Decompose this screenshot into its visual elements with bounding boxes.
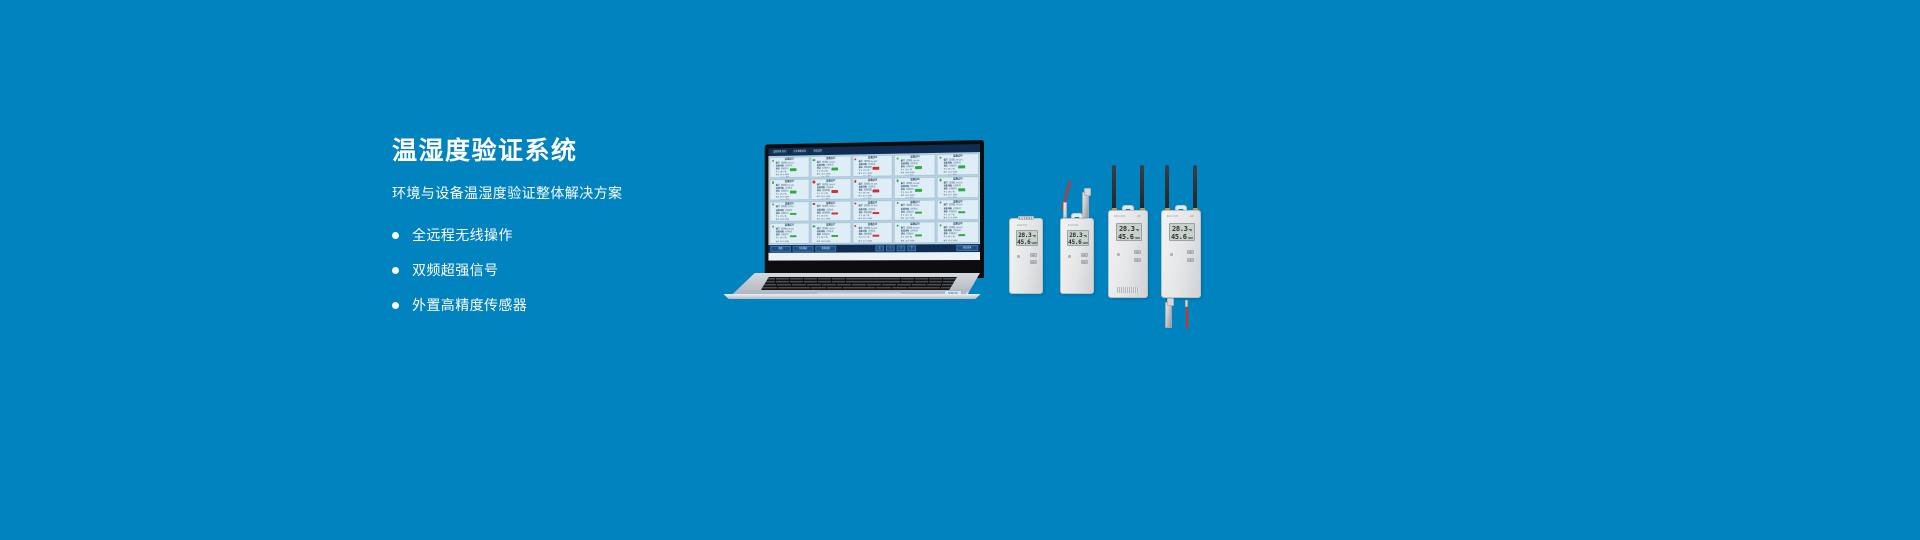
device-status-led-icon — [1017, 255, 1020, 258]
monitor-card[interactable]: 监测点17编号温湿度-TH-017采集间隔1分钟/次状态在线运行T 128.2 … — [810, 222, 851, 244]
monitor-card-status-pill — [831, 235, 838, 237]
card-status-led-icon — [897, 180, 899, 182]
keyboard-key[interactable] — [843, 287, 858, 290]
device-set-button[interactable]: SET — [1030, 253, 1037, 257]
monitor-card-status-pill — [915, 166, 922, 168]
monitor-card-status-pill — [915, 234, 922, 236]
temperature-probe-tip — [1185, 300, 1188, 307]
monitor-card-rows: 编号温湿度-TH-011采集间隔1分钟/次状态在线运行T 127.8 ℃H 14… — [771, 206, 807, 222]
lcd-humidity-unit: %RH — [1188, 237, 1193, 241]
monitor-card-rows: 编号温湿度-TH-010采集间隔1分钟/次状态在线运行T 128.0 ℃H 14… — [939, 182, 977, 198]
lcd-temperature-row: 28.3 ℃ — [1117, 225, 1141, 233]
monitor-card-status-pill — [873, 167, 880, 169]
keyboard-key[interactable] — [777, 284, 791, 287]
pager-page-1-button[interactable]: 1 — [886, 246, 895, 251]
hero-banner: 温湿度验证系统 环境与设备温湿度验证整体解决方案 全远程无线操作 双频超强信号 … — [0, 0, 1920, 540]
keyboard-key[interactable] — [762, 287, 777, 290]
temperature-probe-thin — [1063, 202, 1067, 218]
tab-device-monitor[interactable]: 设备管理·监控 — [771, 149, 788, 154]
laptop-base-deck: 智慧互联 — [724, 273, 980, 295]
keyboard-key[interactable] — [887, 278, 900, 281]
monitor-card-status-pill — [831, 190, 838, 192]
lcd-humidity-value: 45.6 — [1171, 233, 1187, 241]
lcd-humidity-value: 45.6 — [1118, 233, 1134, 241]
monitor-card[interactable]: 监测点11编号温湿度-TH-011采集间隔1分钟/次状态在线运行T 127.8 … — [769, 201, 809, 223]
monitor-card[interactable]: 监测点02编号温湿度-TH-002采集间隔1分钟/次状态在线运行T 128.0 … — [810, 155, 851, 177]
device-data-logger-external-probe: ENCON 28.3 ℃ 45.6 %RH REC SET REC — [1060, 218, 1094, 294]
monitor-card[interactable]: 监测点15编号温湿度-TH-015采集间隔1分钟/次状态在线运行T 127.7 … — [937, 199, 979, 221]
monitor-card[interactable]: 监测点05编号温湿度-TH-005采集间隔1分钟/次状态在线运行T 128.1 … — [937, 153, 979, 175]
monitor-card[interactable]: 监测点20编号温湿度-TH-020采集间隔1分钟/次状态在线运行T 128.0 … — [937, 221, 979, 243]
monitor-card-rows: 编号温湿度-TH-007采集间隔1分钟/次状态离线报警T 127.9 ℃H 14… — [812, 184, 849, 200]
antenna-right-icon — [1193, 165, 1197, 209]
lcd-humidity-unit: %RH — [1135, 237, 1140, 241]
lcd-temperature-unit: ℃ — [1083, 235, 1086, 239]
add-device-button[interactable]: 新增设备 — [815, 246, 836, 251]
keyboard-key[interactable] — [790, 278, 803, 281]
device-rec-button[interactable]: REC — [1134, 258, 1141, 262]
device-model-label: H8 — [1190, 214, 1194, 218]
lcd-temperature-value: 28.3 — [1018, 232, 1031, 239]
monitor-card-status-pill — [958, 234, 965, 236]
lcd-humidity-row: 45.6 %RH — [1170, 233, 1194, 241]
page-subtitle: 环境与设备温湿度验证整体解决方案 — [392, 183, 712, 203]
pager-prev-button[interactable]: 上 — [875, 246, 884, 251]
device-rec-button[interactable]: REC — [1030, 260, 1037, 264]
keyboard-key[interactable] — [901, 281, 914, 284]
keyboard-key[interactable] — [811, 287, 826, 290]
keyboard-key[interactable] — [915, 278, 928, 281]
device-lcd-display: 28.3 ℃ 45.6 %RH REC — [1116, 223, 1142, 241]
bullet-dot-icon — [392, 302, 399, 309]
keyboard-key[interactable] — [912, 284, 926, 287]
keyboard-key[interactable] — [807, 284, 821, 287]
keyboard-row — [762, 278, 956, 281]
device-set-button[interactable]: SET — [1134, 250, 1141, 254]
sensor-vent-icon — [1018, 216, 1034, 220]
antenna-right-icon — [1140, 165, 1144, 209]
device-status-led-icon — [1170, 253, 1173, 256]
monitor-card-status-pill — [958, 166, 965, 168]
lcd-humidity-row: 45.6 %RH — [1068, 239, 1088, 246]
bullet-dot-icon — [392, 232, 399, 239]
keyboard-key[interactable] — [818, 281, 831, 284]
list-item: 外置高精度传感器 — [392, 293, 712, 318]
antenna-left-icon — [1112, 165, 1116, 209]
device-brand-label: ENCON — [1017, 224, 1027, 227]
card-status-led-icon — [813, 225, 815, 227]
laptop-screen: 设备管理·监控 历史数据查询 系统设置 监测点01编号温湿度-TH-001采集间… — [768, 144, 980, 261]
device-brand-label: ENCON — [1068, 224, 1078, 227]
tab-system-settings[interactable]: 系统设置 — [812, 149, 824, 154]
monitor-card[interactable]: 监测点09编号温湿度-TH-009采集间隔1分钟/次状态在线运行T 128.6 … — [894, 176, 936, 198]
keyboard-key[interactable] — [929, 278, 942, 281]
list-item: 全远程无线操作 — [392, 223, 712, 248]
card-status-led-icon — [939, 179, 941, 181]
device-housing: ENCON H8 28.3 ℃ 45.6 %RH REC SET REC — [1108, 210, 1148, 298]
keyboard-key[interactable] — [942, 284, 956, 287]
device-housing: ENCON H8 28.3 ℃ 45.6 %RH REC SET REC — [1161, 210, 1201, 298]
lcd-temperature-value: 28.3 — [1172, 225, 1188, 233]
monitor-card-status-pill — [790, 235, 797, 237]
hero-copy-block: 温湿度验证系统 环境与设备温湿度验证整体解决方案 全远程无线操作 双频超强信号 … — [392, 138, 712, 318]
page-title: 温湿度验证系统 — [392, 138, 712, 166]
laptop-keyboard[interactable] — [761, 277, 957, 290]
laptop-base: 智慧互联 — [718, 271, 986, 300]
app-bottom-toolbar: 刷新 导出报表 新增设备 上 1 2 下 退出登录 — [768, 244, 980, 253]
device-wireless-logger-external: ENCON H8 28.3 ℃ 45.6 %RH REC SET REC — [1161, 210, 1201, 298]
card-status-led-icon — [772, 159, 774, 161]
device-wireless-logger-internal: ENCON H8 28.3 ℃ 45.6 %RH REC SET REC — [1108, 210, 1148, 298]
monitor-card[interactable]: 监测点03编号温湿度-TH-003采集间隔1分钟/次状态离线报警T 127.6 … — [852, 155, 893, 177]
device-data-logger-basic: ENCON 28.3 ℃ 45.6 %RH REC SET REC — [1009, 218, 1043, 294]
monitor-card-rows: 编号温湿度-TH-005采集间隔1分钟/次状态在线运行T 128.1 ℃H 14… — [939, 159, 977, 175]
humidity-probe-metal — [1082, 192, 1089, 218]
monitor-card[interactable]: 监测点01编号温湿度-TH-001采集间隔1分钟/次状态在线运行T 128.3 … — [769, 156, 809, 178]
keyboard-key[interactable] — [897, 284, 911, 287]
monitor-card-rows: 编号温湿度-TH-020采集间隔1分钟/次状态在线运行T 128.0 ℃H 14… — [939, 227, 977, 243]
probe-cable — [1186, 307, 1188, 329]
monitor-card[interactable]: 监测点10编号温湿度-TH-010采集间隔1分钟/次状态在线运行T 128.0 … — [937, 176, 979, 198]
device-set-button[interactable]: SET — [1081, 253, 1088, 257]
monitor-card-rows: 编号温湿度-TH-008采集间隔1分钟/次状态离线报警T 128.2 ℃H 14… — [854, 183, 891, 199]
keyboard-key[interactable] — [876, 287, 891, 290]
keyboard-key[interactable] — [859, 278, 872, 281]
refresh-button[interactable]: 刷新 — [770, 246, 791, 251]
keyboard-key[interactable] — [941, 287, 956, 290]
monitor-card-status-pill — [873, 234, 880, 236]
bullet-dot-icon — [392, 267, 399, 274]
keyboard-key[interactable] — [927, 284, 941, 287]
keyboard-key[interactable] — [827, 287, 842, 290]
lcd-temperature-value: 28.3 — [1119, 225, 1135, 233]
keyboard-key[interactable] — [790, 281, 803, 284]
device-model-label: H8 — [1137, 214, 1141, 218]
device-brand-label: ENCON — [1114, 214, 1126, 218]
keyboard-key[interactable] — [887, 281, 900, 284]
lcd-humidity-row: 45.6 %RH — [1017, 239, 1037, 246]
keyboard-key[interactable] — [762, 281, 775, 284]
device-rec-button[interactable]: REC — [1081, 260, 1088, 264]
monitor-card-rows: 编号温湿度-TH-015采集间隔1分钟/次状态在线运行T 127.7 ℃H 14… — [939, 204, 977, 220]
monitor-card-rows: 编号温湿度-TH-012采集间隔1分钟/次状态离线报警T 128.3 ℃H 14… — [812, 206, 849, 222]
bullet-label: 全远程无线操作 — [412, 225, 513, 245]
keyboard-key[interactable] — [822, 284, 836, 287]
keyboard-key[interactable] — [852, 284, 866, 287]
keyboard-key[interactable] — [859, 287, 874, 290]
keyboard-key[interactable] — [859, 281, 872, 284]
device-lcd-display: 28.3 ℃ 45.6 %RH REC — [1067, 230, 1089, 246]
lcd-temperature-row: 28.3 ℃ — [1068, 232, 1088, 239]
antenna-left-icon — [1165, 165, 1169, 209]
monitor-card[interactable]: 监测点12编号温湿度-TH-012采集间隔1分钟/次状态离线报警T 128.3 … — [810, 200, 851, 222]
laptop-lid: 设备管理·监控 历史数据查询 系统设置 监测点01编号温湿度-TH-001采集间… — [765, 140, 984, 278]
monitor-card-rows: 编号温湿度-TH-003采集间隔1分钟/次状态离线报警T 127.6 ℃H 14… — [854, 161, 891, 177]
keyboard-key[interactable] — [762, 278, 775, 281]
list-item: 双频超强信号 — [392, 258, 712, 283]
monitor-card-grid: 监测点01编号温湿度-TH-001采集间隔1分钟/次状态在线运行T 128.3 … — [768, 152, 980, 245]
card-status-led-icon — [772, 181, 774, 183]
keyboard-key[interactable] — [943, 281, 956, 284]
keyboard-key[interactable] — [792, 284, 806, 287]
device-status-led-icon — [1068, 255, 1071, 258]
monitor-card-rows: 编号温湿度-TH-006采集间隔1分钟/次状态在线运行T 128.4 ℃H 14… — [771, 184, 807, 200]
monitor-card-status-pill — [873, 190, 880, 192]
lcd-temperature-row: 28.3 ℃ — [1017, 232, 1037, 239]
monitor-card[interactable]: 监测点16编号温湿度-TH-016采集间隔1分钟/次状态在线运行T 128.4 … — [769, 223, 809, 244]
monitor-card-rows: 编号温湿度-TH-019采集间隔1分钟/次状态在线运行T 128.8 ℃H 14… — [896, 228, 934, 244]
lcd-temperature-unit: ℃ — [1136, 229, 1139, 233]
keyboard-key[interactable] — [846, 278, 859, 281]
monitor-card[interactable]: 监测点14编号温湿度-TH-014采集间隔1分钟/次状态在线运行T 128.1 … — [894, 199, 936, 221]
export-report-button[interactable]: 导出报表 — [793, 246, 814, 251]
monitor-card-status-pill — [790, 191, 797, 193]
lcd-temperature-row: 28.3 ℃ — [1170, 225, 1194, 233]
monitor-card-rows: 编号温湿度-TH-002采集间隔1分钟/次状态在线运行T 128.0 ℃H 14… — [812, 161, 849, 177]
monitor-card-rows: 编号温湿度-TH-004采集间隔1分钟/次状态在线运行T 128.5 ℃H 14… — [896, 160, 934, 176]
keyboard-key[interactable] — [776, 278, 789, 281]
keyboard-key[interactable] — [908, 287, 923, 290]
keyboard-key[interactable] — [943, 278, 956, 281]
keyboard-key[interactable] — [873, 281, 886, 284]
humidity-probe-metal — [1165, 302, 1172, 328]
keyboard-key[interactable] — [778, 287, 793, 290]
tab-history-query[interactable]: 历史数据查询 — [792, 149, 808, 154]
monitor-card[interactable]: 监测点13编号温湿度-TH-013采集间隔1分钟/次状态离线报警T 128.7 … — [852, 200, 893, 222]
bullet-label: 双频超强信号 — [412, 260, 498, 280]
card-status-led-icon — [813, 181, 815, 183]
keyboard-key[interactable] — [837, 284, 851, 287]
card-status-led-icon — [772, 225, 774, 227]
monitor-card-status-pill — [958, 188, 965, 190]
monitor-card-rows: 编号温湿度-TH-018采集间隔1分钟/次状态离线报警T 127.5 ℃H 14… — [854, 228, 891, 244]
device-rec-button[interactable]: REC — [1187, 258, 1194, 262]
feature-bullet-list: 全远程无线操作 双频超强信号 外置高精度传感器 — [392, 223, 712, 318]
device-lcd-display: 28.3 ℃ 45.6 %RH REC — [1169, 223, 1195, 241]
device-status-led-icon — [1117, 253, 1120, 256]
monitor-card-status-pill — [831, 168, 838, 170]
monitor-card-rows: 编号温湿度-TH-016采集间隔1分钟/次状态在线运行T 128.4 ℃H 14… — [771, 229, 807, 245]
device-set-button[interactable]: SET — [1187, 250, 1194, 254]
keyboard-key[interactable] — [929, 281, 942, 284]
monitor-card-rows: 编号温湿度-TH-017采集间隔1分钟/次状态在线运行T 128.2 ℃H 14… — [812, 228, 849, 244]
keyboard-key[interactable] — [762, 284, 776, 287]
laptop-base-front-edge — [718, 294, 986, 299]
monitor-card-status-pill — [790, 169, 797, 171]
lcd-humidity-value: 45.6 — [1068, 239, 1081, 246]
keyboard-key[interactable] — [804, 278, 817, 281]
lcd-humidity-row: 45.6 %RH — [1117, 233, 1141, 241]
monitor-card-rows: 编号温湿度-TH-013采集间隔1分钟/次状态离线报警T 128.7 ℃H 14… — [854, 205, 891, 221]
keyboard-key[interactable] — [832, 281, 845, 284]
keyboard-key[interactable] — [882, 284, 896, 287]
keyboard-key[interactable] — [924, 287, 939, 290]
monitor-card-rows: 编号温湿度-TH-014采集间隔1分钟/次状态在线运行T 128.1 ℃H 14… — [896, 205, 934, 221]
monitor-card[interactable]: 监测点07编号温湿度-TH-007采集间隔1分钟/次状态离线报警T 127.9 … — [810, 178, 851, 200]
monitor-card-status-pill — [873, 212, 880, 214]
monitor-card[interactable]: 监测点18编号温湿度-TH-018采集间隔1分钟/次状态离线报警T 127.5 … — [852, 222, 893, 244]
pager-next-button[interactable]: 下 — [907, 246, 916, 251]
keyboard-key[interactable] — [873, 278, 886, 281]
lcd-temperature-unit: ℃ — [1189, 229, 1192, 233]
card-status-led-icon — [939, 156, 941, 158]
card-status-led-icon — [813, 159, 815, 161]
logout-button[interactable]: 退出登录 — [956, 245, 978, 250]
device-brand-label: ENCON — [1167, 214, 1179, 218]
keyboard-key[interactable] — [867, 284, 881, 287]
monitor-card[interactable]: 监测点19编号温湿度-TH-019采集间隔1分钟/次状态在线运行T 128.8 … — [894, 222, 936, 244]
monitor-card-rows: 编号温湿度-TH-009采集间隔1分钟/次状态在线运行T 128.6 ℃H 14… — [896, 182, 934, 198]
lcd-humidity-value: 45.6 — [1017, 239, 1030, 246]
device-lcd-display: 28.3 ℃ 45.6 %RH REC — [1016, 230, 1038, 246]
keyboard-key[interactable] — [892, 287, 907, 290]
laptop-product-image: 设备管理·监控 历史数据查询 系统设置 监测点01编号温湿度-TH-001采集间… — [718, 140, 986, 300]
keyboard-key[interactable] — [901, 278, 914, 281]
lcd-temperature-unit: ℃ — [1032, 235, 1035, 239]
monitor-card[interactable]: 监测点04编号温湿度-TH-004采集间隔1分钟/次状态在线运行T 128.5 … — [894, 154, 936, 176]
monitor-card-status-pill — [915, 189, 922, 191]
keyboard-key[interactable] — [818, 278, 831, 281]
monitor-card-rows: 编号温湿度-TH-001采集间隔1分钟/次状态在线运行T 128.3 ℃H 14… — [771, 162, 807, 178]
lcd-humidity-unit: %RH — [1082, 242, 1087, 246]
monitor-card[interactable]: 监测点06编号温湿度-TH-006采集间隔1分钟/次状态在线运行T 128.4 … — [769, 178, 809, 200]
lcd-temperature-value: 28.3 — [1069, 232, 1082, 239]
keyboard-key[interactable] — [804, 281, 817, 284]
device-housing: ENCON 28.3 ℃ 45.6 %RH REC SET REC — [1060, 218, 1094, 294]
keyboard-key[interactable] — [794, 287, 809, 290]
monitor-card[interactable]: 监测点08编号温湿度-TH-008采集间隔1分钟/次状态离线报警T 128.2 … — [852, 177, 893, 199]
device-housing: ENCON 28.3 ℃ 45.6 %RH REC SET REC — [1009, 218, 1043, 294]
bullet-label: 外置高精度传感器 — [412, 295, 527, 315]
lcd-humidity-unit: %RH — [1031, 242, 1036, 246]
internal-sensor-grill-icon — [1117, 287, 1139, 293]
keyboard-key[interactable] — [776, 281, 789, 284]
keyboard-key[interactable] — [832, 278, 845, 281]
keyboard-key[interactable] — [915, 281, 928, 284]
keyboard-key[interactable] — [846, 281, 859, 284]
pager-page-2-button[interactable]: 2 — [897, 246, 906, 251]
